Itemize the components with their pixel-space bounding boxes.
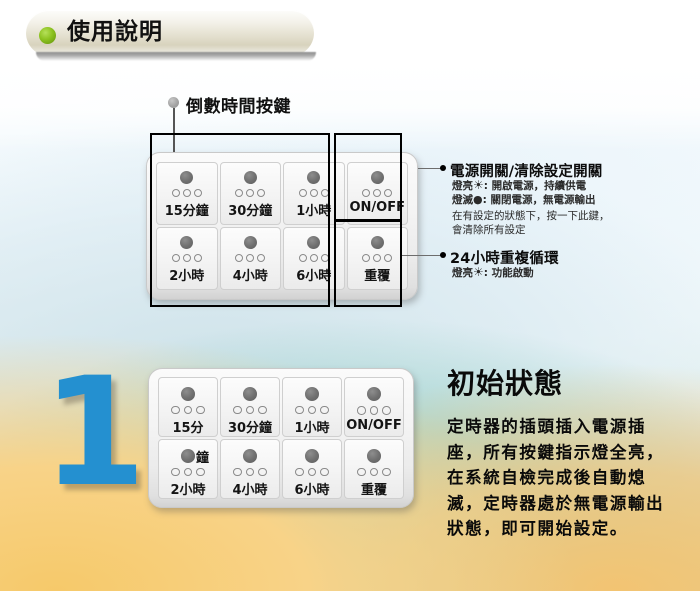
- key-onoff-bottom[interactable]: ON/OFF: [344, 377, 404, 437]
- mini-led-group: [357, 468, 391, 477]
- led-indicator-icon: [367, 449, 381, 463]
- mini-led-icon: [382, 468, 391, 477]
- key-repeat-bottom[interactable]: 重覆: [344, 439, 404, 499]
- mini-led-group: [171, 406, 205, 415]
- mini-led-group: [295, 468, 329, 477]
- key-label: 1小時: [294, 417, 329, 436]
- highlight-box-countdown-keys: [150, 133, 330, 307]
- key-label: 6小時: [294, 479, 329, 498]
- countdown-callout-label: 倒數時間按鍵: [186, 92, 291, 117]
- countdown-callout-dot-icon: [168, 97, 179, 108]
- key-label: 重覆: [361, 479, 387, 498]
- mini-led-icon: [184, 468, 193, 477]
- section-header-shadow: [36, 52, 316, 61]
- key-label: 15分: [172, 417, 203, 436]
- key-label: ON/OFF: [346, 418, 402, 433]
- bullet-dot-icon: [39, 27, 56, 44]
- mini-led-icon: [171, 468, 180, 477]
- mini-led-icon: [295, 468, 304, 477]
- mini-led-icon: [320, 406, 329, 415]
- mini-led-icon: [370, 406, 379, 415]
- mini-led-icon: [308, 468, 317, 477]
- key-label: 4小時: [232, 479, 267, 498]
- mini-led-icon: [184, 406, 193, 415]
- callout-power-line1-post: : 開啟電源，持續供電: [484, 180, 586, 192]
- highlight-box-divider: [334, 219, 402, 222]
- mini-led-icon: [382, 406, 391, 415]
- callout-power-dot-icon: [440, 165, 446, 171]
- mini-led-group: [171, 468, 205, 477]
- mini-led-icon: [246, 468, 255, 477]
- mini-led-icon: [258, 406, 267, 415]
- key-15min-bottom[interactable]: 15分: [158, 377, 218, 437]
- keypad-bottom: 15分 30分鐘 1小時: [157, 376, 405, 500]
- callout-power-line2: 燈滅●: 關閉電源，無電源輸出: [452, 193, 595, 208]
- timer-device-bottom: 15分 30分鐘 1小時: [148, 368, 414, 508]
- sun-icon: ☀: [473, 178, 484, 192]
- callout-repeat-leader-line: [402, 255, 442, 256]
- mini-led-group: [233, 468, 267, 477]
- mini-led-icon: [196, 468, 205, 477]
- page-title: 使用說明: [67, 17, 163, 47]
- mini-led-icon: [308, 406, 317, 415]
- key-1hour-bottom[interactable]: 1小時: [282, 377, 342, 437]
- callout-repeat-title: 24小時重複循環: [450, 247, 559, 268]
- led-indicator-icon: [305, 387, 319, 401]
- led-indicator-icon: [243, 387, 257, 401]
- callout-power-line2-post: : 關閉電源，無電源輸出: [483, 194, 596, 206]
- led-indicator-icon: [181, 449, 195, 463]
- step-heading: 初始狀態: [447, 366, 563, 402]
- callout-power-note1: 在有設定的狀態下，按一下此鍵，: [452, 210, 610, 224]
- callout-repeat-line1: 燈亮☀: 功能啟動: [452, 266, 534, 281]
- key-label: 30分鐘: [228, 417, 272, 436]
- callout-power-leader-line: [418, 168, 442, 169]
- callout-repeat-dot-icon: [440, 252, 446, 258]
- callout-repeat-line1-pre: 燈亮: [452, 267, 473, 279]
- mini-led-icon: [258, 468, 267, 477]
- callout-power-line2-pre: 燈滅: [452, 194, 473, 206]
- mini-led-icon: [196, 406, 205, 415]
- step-body-text: 定時器的插頭插入電源插座，所有按鍵指示燈全亮，在系統自檢完成後自動熄滅，定時器處…: [447, 414, 677, 542]
- key-label: 2小時: [170, 479, 205, 498]
- mini-led-group: [233, 406, 267, 415]
- filled-circle-icon: ●: [473, 193, 483, 206]
- led-indicator-icon: [181, 387, 195, 401]
- mini-led-group: [357, 406, 391, 415]
- callout-repeat-line1-post: : 功能啟動: [484, 267, 534, 279]
- key-6hour-bottom[interactable]: 6小時: [282, 439, 342, 499]
- key-overflow-char: 鐘: [196, 447, 209, 466]
- callout-power-line1-pre: 燈亮: [452, 180, 473, 192]
- mini-led-group: [295, 406, 329, 415]
- mini-led-icon: [171, 406, 180, 415]
- led-indicator-icon: [305, 449, 319, 463]
- key-4hour-bottom[interactable]: 4小時: [220, 439, 280, 499]
- callout-power-note2: 會清除所有設定: [452, 224, 526, 238]
- mini-led-icon: [233, 468, 242, 477]
- mini-led-icon: [357, 468, 366, 477]
- mini-led-icon: [357, 406, 366, 415]
- callout-power-line1: 燈亮☀: 開啟電源，持續供電: [452, 179, 586, 194]
- key-30min-bottom[interactable]: 30分鐘: [220, 377, 280, 437]
- mini-led-icon: [246, 406, 255, 415]
- key-2hour-bottom[interactable]: 鐘 2小時: [158, 439, 218, 499]
- led-indicator-icon: [367, 387, 381, 401]
- led-indicator-icon: [243, 449, 257, 463]
- mini-led-icon: [295, 406, 304, 415]
- sun-icon: ☀: [473, 265, 484, 279]
- mini-led-icon: [233, 406, 242, 415]
- step-number: 1: [42, 358, 142, 508]
- mini-led-icon: [370, 468, 379, 477]
- mini-led-icon: [320, 468, 329, 477]
